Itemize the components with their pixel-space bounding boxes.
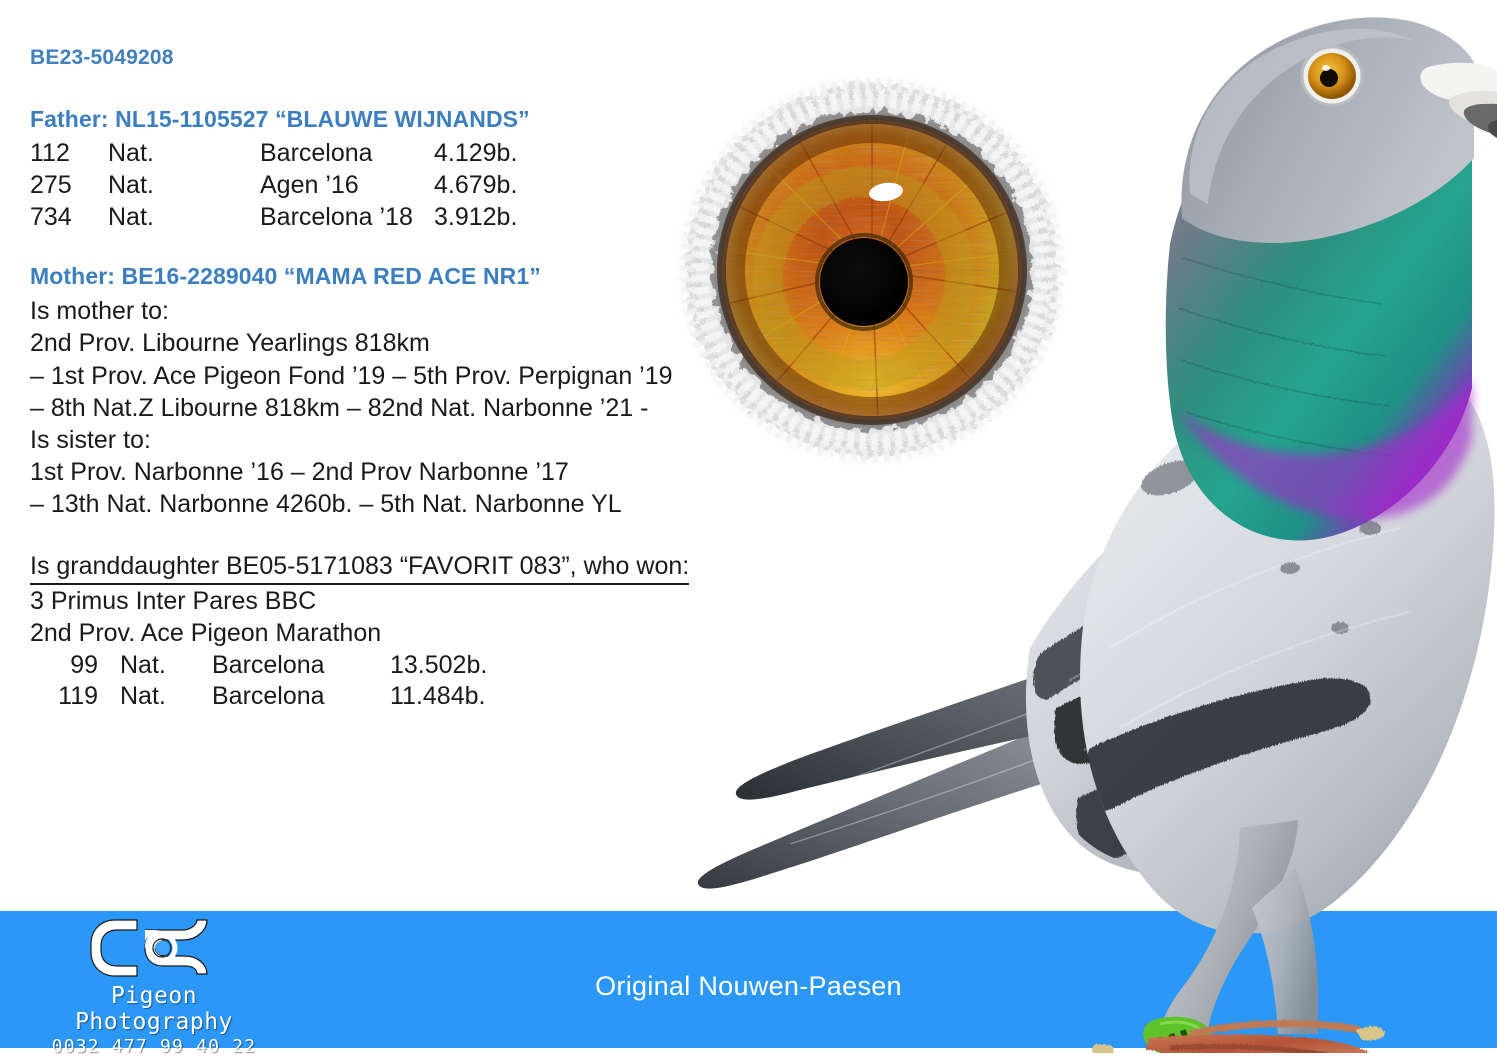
- pedigree-card: BE23-5049208 Father: NL15-1105527 “BLAUW…: [0, 0, 1497, 1058]
- ring-id: BE23-5049208: [30, 46, 730, 70]
- table-row: 275 Nat. Agen ’16 4.679b.: [30, 170, 517, 202]
- mother-line-2: 2nd Prov. Libourne Yearlings 818km: [30, 327, 730, 359]
- result-birds: 13.502b.: [380, 650, 487, 682]
- result-race: Barcelona: [212, 681, 380, 713]
- logo-phone: 0032 477 99 40 22: [36, 1036, 272, 1057]
- result-level: Nat.: [108, 138, 260, 170]
- result-birds: 4.679b.: [430, 170, 517, 202]
- section-spacer: [30, 233, 730, 263]
- cs-camera-logo-icon: [79, 912, 229, 982]
- result-birds: 11.484b.: [380, 681, 487, 713]
- result-position: 275: [30, 170, 108, 202]
- result-level: Nat.: [120, 681, 212, 713]
- mother-line-6: 1st Prov. Narbonne ’16 – 2nd Prov Narbon…: [30, 456, 730, 488]
- father-results-table: 112 Nat. Barcelona 4.129b. 275 Nat. Agen…: [30, 138, 517, 233]
- granddaughter-line-2: 2nd Prov. Ace Pigeon Marathon: [30, 617, 730, 649]
- result-race: Barcelona ’18: [260, 202, 430, 234]
- result-level: Nat.: [108, 202, 260, 234]
- granddaughter-results-table: 99 Nat. Barcelona 13.502b. 119 Nat. Barc…: [30, 650, 487, 714]
- table-row: 734 Nat. Barcelona ’18 3.912b.: [30, 202, 517, 234]
- mother-heading: Mother: BE16-2289040 “MAMA RED ACE NR1”: [30, 263, 730, 290]
- result-position: 112: [30, 138, 108, 170]
- granddaughter-heading: Is granddaughter BE05-5171083 “FAVORIT 0…: [30, 550, 689, 585]
- result-race: Agen ’16: [260, 170, 430, 202]
- mother-line-1: Is mother to:: [30, 295, 730, 327]
- photographer-logo: Pigeon Photography 0032 477 99 40 22: [36, 912, 272, 1042]
- result-position: 119: [30, 681, 120, 713]
- table-row: 99 Nat. Barcelona 13.502b.: [30, 650, 487, 682]
- result-birds: 3.912b.: [430, 202, 517, 234]
- table-row: 119 Nat. Barcelona 11.484b.: [30, 681, 487, 713]
- mother-line-7: – 13th Nat. Narbonne 4260b. – 5th Nat. N…: [30, 488, 730, 520]
- granddaughter-line-1: 3 Primus Inter Pares BBC: [30, 585, 730, 617]
- result-birds: 4.129b.: [430, 138, 517, 170]
- section-spacer: [30, 520, 730, 550]
- result-race: Barcelona: [212, 650, 380, 682]
- pedigree-text-column: BE23-5049208 Father: NL15-1105527 “BLAUW…: [30, 46, 730, 713]
- result-level: Nat.: [108, 170, 260, 202]
- table-row: 112 Nat. Barcelona 4.129b.: [30, 138, 517, 170]
- result-position: 99: [30, 650, 120, 682]
- result-position: 734: [30, 202, 108, 234]
- granddaughter-heading-wrap: Is granddaughter BE05-5171083 “FAVORIT 0…: [30, 550, 730, 585]
- result-level: Nat.: [120, 650, 212, 682]
- mother-line-3: – 1st Prov. Ace Pigeon Fond ’19 – 5th Pr…: [30, 360, 730, 392]
- mother-line-4: – 8th Nat.Z Libourne 818km – 82nd Nat. N…: [30, 392, 730, 424]
- mother-line-5: Is sister to:: [30, 424, 730, 456]
- result-race: Barcelona: [260, 138, 430, 170]
- logo-name: Pigeon Photography: [36, 983, 272, 1035]
- father-heading: Father: NL15-1105527 “BLAUWE WIJNANDS”: [30, 106, 730, 133]
